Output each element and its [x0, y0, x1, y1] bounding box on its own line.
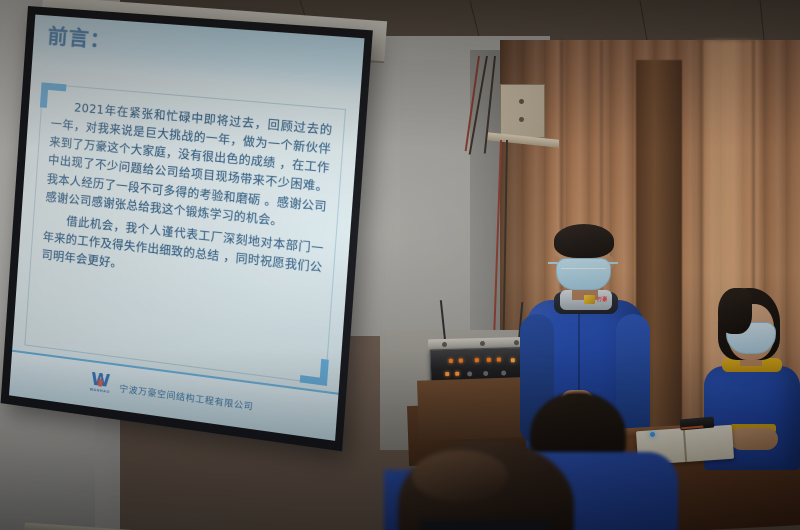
slide-body: 2021年在紧张和忙碌中即将过去，回顾过去的一年，对我来说是巨大挑战的一年，做为… — [12, 66, 360, 392]
presentation-slide: 前言： 2021年在紧张和忙碌中即将过去，回顾过去的一年，对我来说是巨大挑战的一… — [9, 15, 365, 441]
presenter-mask-strap-left — [548, 262, 558, 264]
presenter-face-mask — [556, 258, 611, 290]
slide-title: 前言： — [47, 20, 112, 54]
woman-hands — [730, 428, 778, 450]
corner-bracket-bottom-right-icon — [300, 356, 329, 386]
meeting-room-photo: 前言： 2021年在紧张和忙碌中即将过去，回顾过去的一年，对我来说是巨大挑战的一… — [0, 0, 800, 530]
company-name: 宁波万豪空间结构工程有限公司 — [119, 382, 254, 412]
blue-indicator-light-icon — [650, 432, 655, 437]
company-logo-icon: W WANHAO — [86, 371, 114, 401]
presenter-jacket-logo-icon: 万豪 — [584, 294, 614, 305]
woman-hair-front — [718, 288, 752, 334]
slide-content-box: 2021年在紧张和忙碌中即将过去，回顾过去的一年，对我来说是巨大挑战的一年，做为… — [24, 83, 346, 384]
corner-bracket-top-left-icon — [40, 82, 67, 109]
projection-screen: 前言： 2021年在紧张和忙碌中即将过去，回顾过去的一年，对我来说是巨大挑战的一… — [1, 6, 373, 451]
wall-speaker — [500, 84, 545, 138]
presenter-mask-strap-right — [608, 262, 618, 264]
presenter-hair — [554, 224, 614, 258]
screen-surface: 前言： 2021年在紧张和忙碌中即将过去，回顾过去的一年，对我来说是巨大挑战的一… — [9, 15, 365, 441]
audience-neck-center — [420, 520, 550, 530]
